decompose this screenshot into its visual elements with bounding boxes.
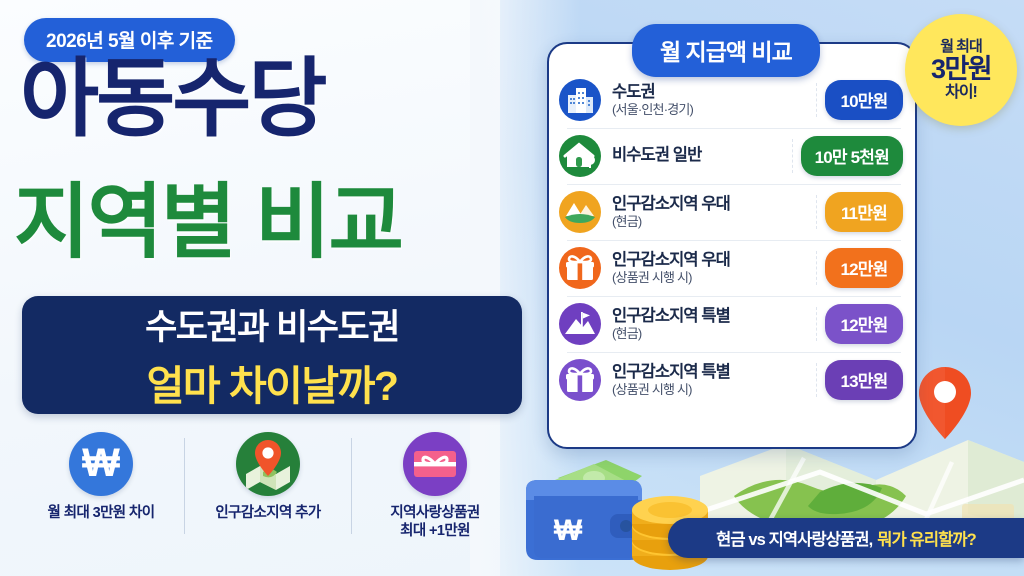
row-text-block: 인구감소지역 우대 (상품권 시행 시) <box>601 251 816 286</box>
badge-top-text: 월 최대 <box>940 39 982 55</box>
row-separator <box>816 83 817 117</box>
badge-amount-text: 3만원 <box>931 55 991 83</box>
row-separator <box>816 195 817 229</box>
feature-label: 인구감소지역 추가 <box>215 504 320 522</box>
house-icon <box>559 135 601 177</box>
row-separator <box>792 139 793 173</box>
table-row[interactable]: 인구감소지역 우대 (상품권 시행 시) 12만원 <box>549 240 915 296</box>
comparison-table: 수도권 (서울·인천·경기) 10만원 비수도권 일반 <box>549 72 915 408</box>
row-sublabel: (서울·인천·경기) <box>612 102 816 118</box>
table-row[interactable]: 인구감소지역 특별 (상품권 시행 시) 13만원 <box>549 352 915 408</box>
won-symbol-glyph: ₩ <box>82 443 120 483</box>
feature-label: 지역사랑상품권 최대 +1만원 <box>390 504 479 540</box>
feature-item-won: ₩ 월 최대 3만원 차이 <box>18 432 184 522</box>
svg-text:₩: ₩ <box>554 514 583 547</box>
row-label: 인구감소지역 특별 <box>612 363 816 381</box>
table-row[interactable]: 수도권 (서울·인천·경기) 10만원 <box>549 72 915 128</box>
row-separator <box>816 363 817 397</box>
row-sublabel: (현금) <box>612 326 816 342</box>
row-separator <box>816 251 817 285</box>
feature-item-giftcard: 지역사랑상품권 최대 +1만원 <box>352 432 518 540</box>
row-text-block: 인구감소지역 특별 (현금) <box>601 307 816 342</box>
callout-box: 수도권과 비수도권 얼마 차이날까? <box>22 296 522 414</box>
gift-box-icon <box>559 247 601 289</box>
row-amount-badge: 12만원 <box>825 248 903 288</box>
row-amount-badge: 12만원 <box>825 304 903 344</box>
row-amount-badge: 11만원 <box>825 192 903 232</box>
table-row[interactable]: 비수도권 일반 10만 5천원 <box>549 128 915 184</box>
won-currency-icon: ₩ <box>69 432 133 496</box>
comparison-card-title: 월 지급액 비교 <box>632 24 820 77</box>
row-text-block: 인구감소지역 특별 (상품권 시행 시) <box>601 363 816 398</box>
mountain-flag-icon <box>559 303 601 345</box>
city-buildings-icon <box>559 79 601 121</box>
row-label: 인구감소지역 우대 <box>612 251 816 269</box>
feature-item-region: 인구감소지역 추가 <box>185 432 351 522</box>
row-text-block: 비수도권 일반 <box>601 146 792 165</box>
map-pin-marker-icon <box>918 366 972 440</box>
row-sublabel: (상품권 시행 시) <box>612 270 816 286</box>
callout-line-2: 얼마 차이날까? <box>147 352 398 412</box>
row-label: 비수도권 일반 <box>612 146 792 164</box>
callout-line-1: 수도권과 비수도권 <box>145 299 399 350</box>
row-separator <box>816 307 817 341</box>
max-difference-badge: 월 최대 3만원 차이! <box>905 14 1017 126</box>
row-label: 인구감소지역 우대 <box>612 195 816 213</box>
row-label: 인구감소지역 특별 <box>612 307 816 325</box>
table-row[interactable]: 인구감소지역 특별 (현금) 12만원 <box>549 296 915 352</box>
row-amount-badge: 10만원 <box>825 80 903 120</box>
row-amount-badge: 13만원 <box>825 360 903 400</box>
page-title-primary: 아동수당 <box>20 56 324 142</box>
badge-bottom-text: 차이! <box>945 85 977 102</box>
feature-label: 월 최대 3만원 차이 <box>48 504 155 522</box>
row-text-block: 수도권 (서울·인천·경기) <box>601 83 816 118</box>
gift-card-icon <box>403 432 467 496</box>
infographic-canvas: 2026년 5월 이후 기준 아동수당 지역별 비교 수도권과 비수도권 얼마 … <box>0 0 1024 576</box>
row-sublabel: (현금) <box>612 214 816 230</box>
mountain-icon <box>559 191 601 233</box>
table-row[interactable]: 인구감소지역 우대 (현금) 11만원 <box>549 184 915 240</box>
map-pin-icon <box>236 432 300 496</box>
banner-text-primary: 현금 vs 지역사랑상품권, <box>716 526 872 550</box>
page-title-secondary: 지역별 비교 <box>14 182 402 264</box>
row-label: 수도권 <box>612 83 816 101</box>
bottom-question-banner: 현금 vs 지역사랑상품권, 뭐가 유리할까? <box>668 518 1024 558</box>
row-text-block: 인구감소지역 우대 (현금) <box>601 195 816 230</box>
feature-highlights: ₩ 월 최대 3만원 차이 인구감소지역 추가 <box>18 432 518 562</box>
gift-box-icon <box>559 359 601 401</box>
row-amount-badge: 10만 5천원 <box>801 136 903 176</box>
row-sublabel: (상품권 시행 시) <box>612 382 816 398</box>
banner-text-highlight: 뭐가 유리할까? <box>877 526 976 550</box>
